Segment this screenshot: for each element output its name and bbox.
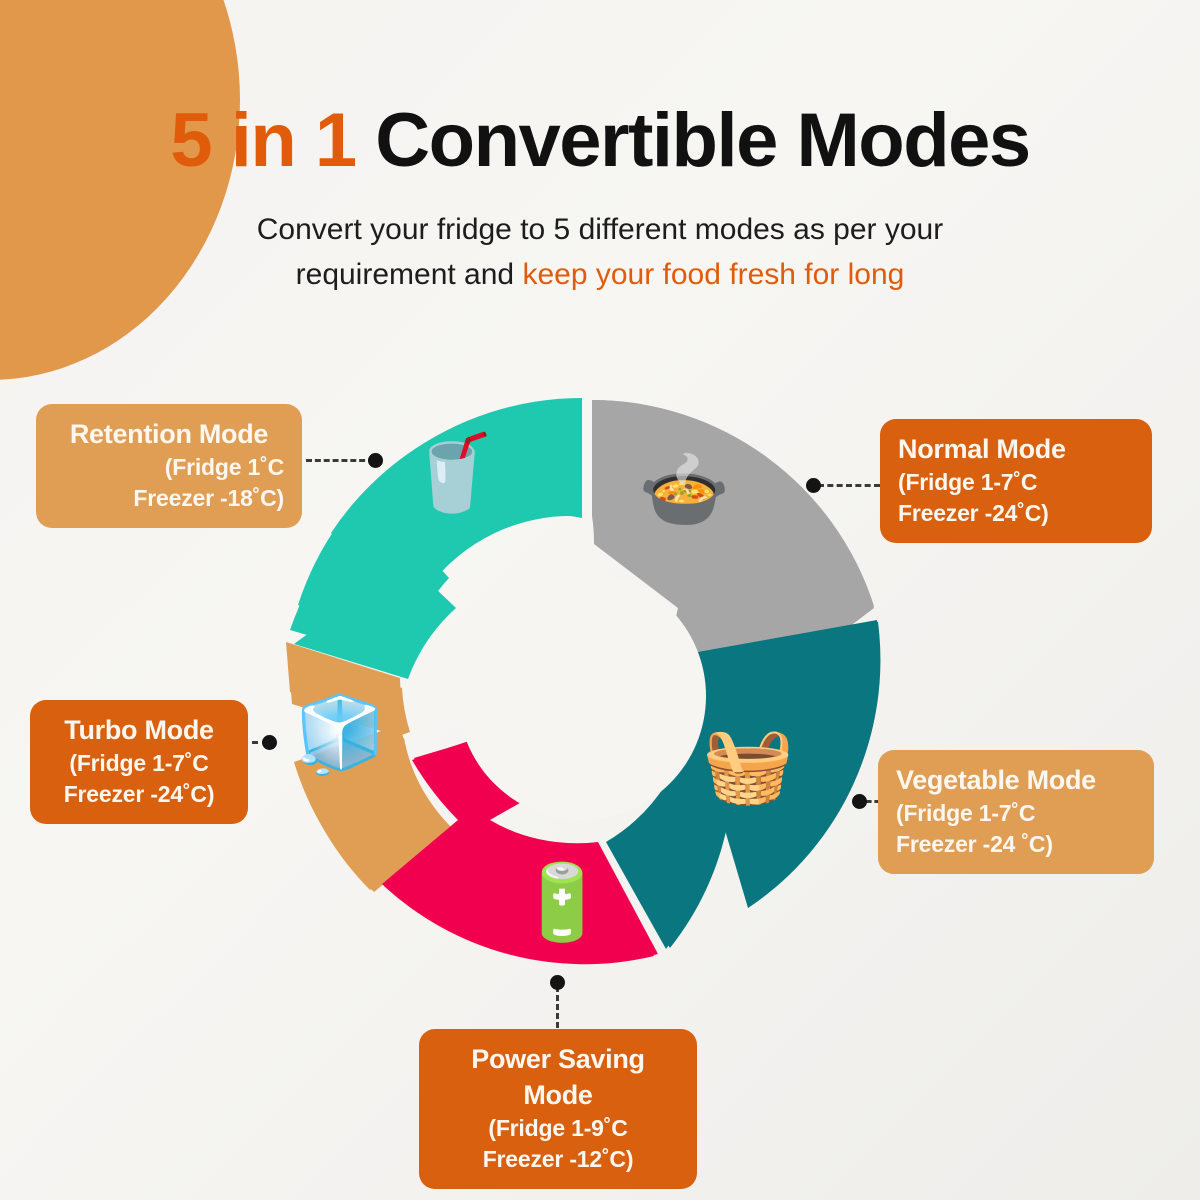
turbo-mode-title: Turbo Mode (48, 712, 230, 748)
wheel-center-hole (458, 572, 706, 820)
title-plain: Convertible Modes (356, 98, 1030, 183)
normal-freezer-temp: Freezer -24˚C) (898, 498, 1134, 529)
label-card-vegetable[interactable]: Vegetable Mode (Fridge 1-7˚C Freezer -24… (878, 750, 1154, 874)
decorative-orange-arc (0, 0, 240, 380)
power-saving-mode-title: Power Saving Mode (437, 1041, 679, 1113)
retention-fridge-temp: (Fridge 1˚C (54, 452, 284, 483)
normal-fridge-temp: (Fridge 1-7˚C (898, 467, 1134, 498)
turbo-fridge-temp: (Fridge 1-7˚C (48, 748, 230, 779)
infographic-page: 5 in 1 Convertible Modes Convert your fr… (0, 0, 1200, 1200)
connector-dot-normal (806, 478, 821, 493)
power-saving-freezer-temp: Freezer -12˚C) (437, 1144, 679, 1175)
retention-freezer-temp: Freezer -18˚C) (54, 483, 284, 514)
page-subtitle: Convert your fridge to 5 different modes… (150, 207, 1050, 297)
turbo-freezer-temp: Freezer -24˚C) (48, 779, 230, 810)
retention-mode-title: Retention Mode (54, 416, 284, 452)
connector-power (556, 986, 559, 1028)
title-accent: 5 in 1 (170, 98, 355, 183)
connector-retention (306, 459, 374, 462)
connector-dot-turbo (262, 735, 277, 750)
vegetable-mode-title: Vegetable Mode (896, 762, 1136, 798)
connector-dot-power (550, 975, 565, 990)
subtitle-line2: requirement and (296, 258, 523, 291)
normal-mode-title: Normal Mode (898, 431, 1134, 467)
label-card-retention[interactable]: Retention Mode (Fridge 1˚C Freezer -18˚C… (36, 404, 302, 528)
subtitle-line1: Convert your fridge to 5 different modes… (257, 213, 943, 246)
label-card-power-saving[interactable]: Power Saving Mode (Fridge 1-9˚C Freezer … (419, 1029, 697, 1189)
label-card-normal[interactable]: Normal Mode (Fridge 1-7˚C Freezer -24˚C) (880, 419, 1152, 543)
convertible-modes-wheel: 🥤 🍲 🧺 🔋 🧊 (278, 392, 886, 1000)
connector-dot-retention (368, 453, 383, 468)
connector-dot-vegetable (852, 794, 867, 809)
subtitle-line2-accent: keep your food fresh for long (522, 258, 904, 291)
power-saving-fridge-temp: (Fridge 1-9˚C (437, 1113, 679, 1144)
label-card-turbo[interactable]: Turbo Mode (Fridge 1-7˚C Freezer -24˚C) (30, 700, 248, 824)
vegetable-fridge-temp: (Fridge 1-7˚C (896, 798, 1136, 829)
connector-normal (818, 484, 880, 487)
vegetable-freezer-temp: Freezer -24 ˚C) (896, 829, 1136, 860)
page-title: 5 in 1 Convertible Modes (0, 97, 1200, 184)
